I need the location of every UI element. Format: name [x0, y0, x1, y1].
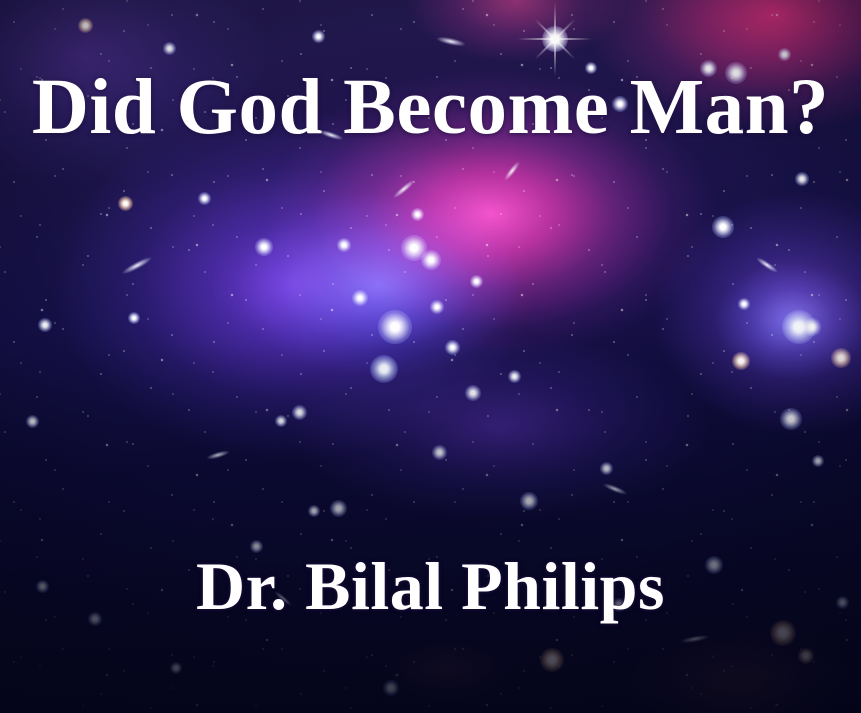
- galaxy-bright: [370, 355, 398, 383]
- galaxy-bright: [378, 310, 412, 344]
- galaxy-bright: [778, 48, 791, 61]
- galaxy-bright: [600, 462, 613, 475]
- galaxy-bright: [421, 250, 441, 270]
- galaxy-bright: [118, 196, 133, 211]
- galaxy-bright: [795, 172, 809, 186]
- galaxy-bright: [26, 415, 39, 428]
- galaxy-bright: [255, 238, 273, 256]
- slide-title: Did God Become Man?: [0, 68, 861, 147]
- edge-on-galaxy: [602, 481, 628, 496]
- galaxy-bright: [337, 238, 351, 252]
- galaxy-bright: [782, 310, 816, 344]
- galaxy-bright: [330, 500, 347, 517]
- edge-on-galaxy: [120, 254, 153, 276]
- galaxy-bright: [430, 300, 444, 314]
- galaxy-bright: [163, 42, 176, 55]
- galaxy-bright: [312, 30, 325, 43]
- galaxy-bright: [470, 275, 483, 288]
- edge-on-galaxy: [436, 35, 467, 48]
- galaxy-bright: [465, 385, 481, 401]
- edge-on-galaxy: [206, 449, 231, 461]
- galaxy-bright: [798, 648, 814, 664]
- galaxy-bright: [38, 318, 52, 332]
- galaxy-bright: [352, 290, 368, 306]
- galaxy-bright: [432, 445, 447, 460]
- galaxy-bright: [275, 415, 287, 427]
- galaxy-bright: [292, 405, 307, 420]
- galaxy-bright: [508, 370, 521, 383]
- galaxy-bright: [411, 208, 424, 221]
- galaxy-bright: [401, 235, 427, 261]
- galaxy-bright: [308, 505, 320, 517]
- galaxy-bright: [198, 192, 211, 205]
- edge-on-galaxy: [680, 633, 711, 644]
- galaxy-bright: [732, 352, 750, 370]
- galaxy-bright: [78, 18, 93, 33]
- edge-on-galaxy: [502, 160, 522, 183]
- galaxy-bright: [831, 348, 851, 368]
- galaxy-bright: [445, 340, 460, 355]
- galaxy-bright: [128, 312, 140, 324]
- galaxy-bright: [383, 680, 399, 696]
- galaxy-bright: [770, 620, 796, 646]
- galaxy-bright: [812, 455, 824, 467]
- edge-on-galaxy: [755, 255, 780, 275]
- galaxy-bright: [712, 216, 734, 238]
- galaxy-bright: [170, 662, 182, 674]
- galaxy-bright: [803, 318, 821, 336]
- galaxy-bright: [540, 648, 564, 672]
- edge-on-galaxy: [391, 178, 416, 201]
- galaxy-bright: [738, 298, 750, 310]
- galaxy-bright: [780, 408, 802, 430]
- galaxy-bright: [520, 492, 538, 510]
- presentation-slide: Did God Become Man? Dr. Bilal Philips: [0, 0, 861, 713]
- slide-subtitle-speaker: Dr. Bilal Philips: [0, 552, 861, 620]
